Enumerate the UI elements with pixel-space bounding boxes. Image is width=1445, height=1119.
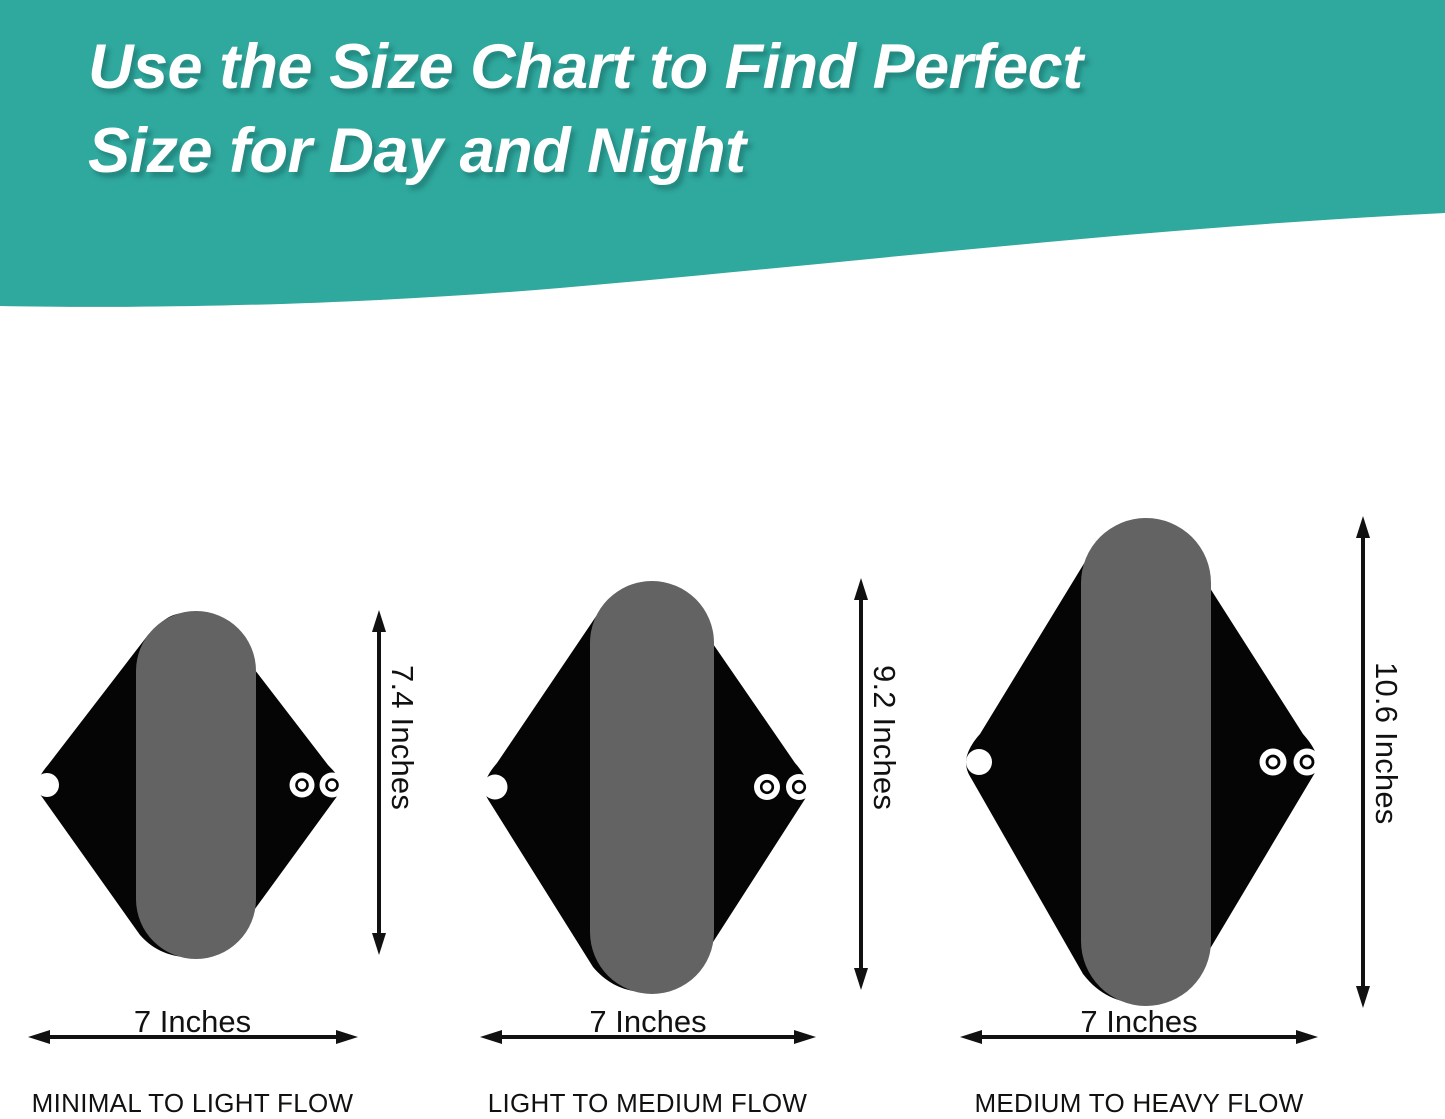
- pad-illustration-medium: [475, 575, 825, 1000]
- width-dimension-large: [960, 1026, 1318, 1048]
- pad-illustration-small: [28, 605, 358, 965]
- pad-illustration-large: [955, 512, 1335, 1012]
- flow-label-small: MINIMAL TO LIGHT FLOW: [15, 1088, 370, 1119]
- pad-insert-large: [1081, 518, 1211, 1006]
- width-dimension-medium: [480, 1026, 816, 1048]
- flow-label-large: MEDIUM TO HEAVY FLOW: [960, 1088, 1318, 1119]
- pad-insert-medium: [590, 581, 714, 994]
- length-dimension-label-small: 7.4 Inches: [384, 665, 420, 810]
- pad-insert-small: [136, 611, 256, 959]
- snap-left-medium: [483, 775, 508, 800]
- length-dimension-label-large: 10.6 Inches: [1368, 662, 1404, 824]
- snap-left-small: [35, 773, 59, 797]
- length-dimension-label-medium: 9.2 Inches: [866, 665, 902, 810]
- size-chart-diagram: 7.4 Inches 7 Inches MINIMAL TO LIGHT FLO…: [0, 0, 1445, 1116]
- snap-left-large: [966, 749, 992, 775]
- width-dimension-small: [28, 1026, 358, 1048]
- flow-label-medium: LIGHT TO MEDIUM FLOW: [470, 1088, 825, 1119]
